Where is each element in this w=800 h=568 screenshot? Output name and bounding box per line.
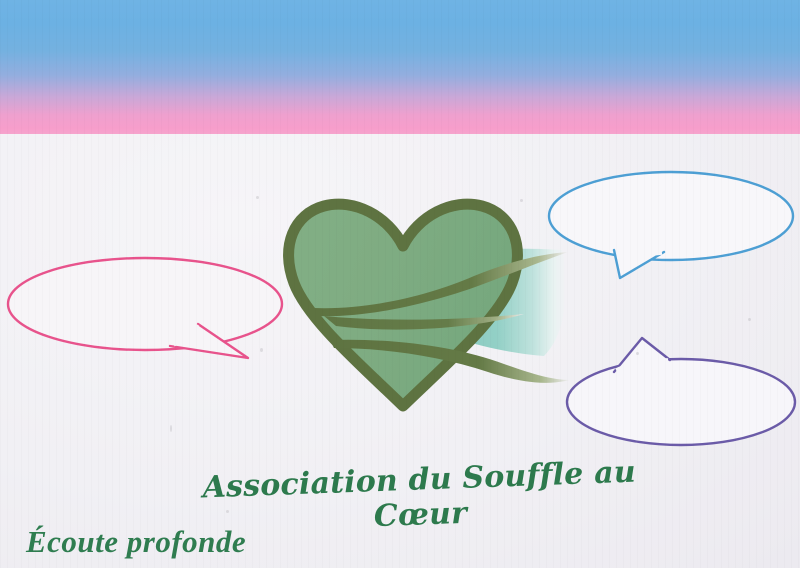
flyer-canvas: Écoute profonde Sophrologie Hypnose Asso… <box>0 0 800 568</box>
bubble-outline-hypnose <box>567 359 795 445</box>
scan-speck <box>520 199 523 202</box>
heart-logo <box>278 188 578 413</box>
scan-speck <box>748 318 751 321</box>
speech-bubble-sophrologie[interactable]: Sophrologie <box>542 166 800 286</box>
scan-speck <box>226 510 229 513</box>
gradient-band <box>0 0 800 134</box>
bubble-outline-ecoute <box>8 258 282 350</box>
scan-speck <box>636 352 639 355</box>
speech-bubble-ecoute-profonde[interactable]: Écoute profonde <box>2 252 288 370</box>
bubble-outline-sophrologie <box>549 172 793 260</box>
scan-speck <box>260 348 263 352</box>
speech-bubble-hypnose[interactable]: Hypnose <box>562 336 800 450</box>
scan-speck <box>170 425 172 432</box>
scan-speck <box>256 196 259 199</box>
